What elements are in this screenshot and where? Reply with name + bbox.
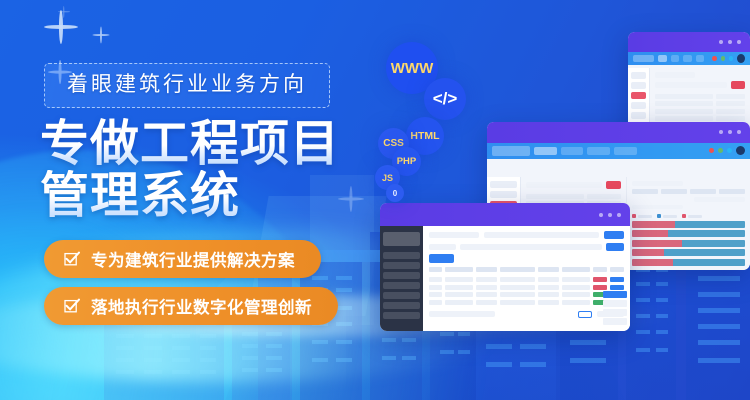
legend-entry [632,214,652,218]
table-row [429,292,625,297]
window-dot [737,40,741,44]
status-icon [718,148,723,153]
table-header-cell [500,267,535,272]
app-tab [671,55,680,62]
app-logo [383,232,420,246]
content-line [526,182,602,188]
table-header-cell [445,267,473,272]
headline-line-2: 管理系统 [40,170,340,222]
content-line [632,181,683,186]
table-row [655,116,745,121]
dashboard-window-front [380,203,630,331]
app-topbar [487,143,750,160]
window-dot [728,130,732,134]
window-dot [608,213,612,217]
sidebar-item [383,292,420,299]
feature-pill-1-label: 专为建筑行业提供解决方案 [91,247,295,271]
window-title-bar [380,203,630,226]
avatar [736,146,745,155]
app-logo [633,55,654,62]
app-content [423,226,631,331]
subtitle-box: 着眼建筑行业业务方向 [44,63,330,108]
add-button [429,254,454,263]
content-line [632,205,683,210]
content-table [429,277,625,305]
table-cell [526,194,584,199]
sidebar-item [631,102,646,109]
table-header-cell [719,189,745,194]
chart-bar [632,221,745,228]
table-header-cell [661,189,687,194]
notification-icon [712,56,716,61]
table-header-cell [593,267,607,272]
feature-pill-1[interactable]: 专为建筑行业提供解决方案 [44,240,321,278]
app-tab [587,147,610,156]
page-title-placeholder [429,232,480,238]
table-cell [716,116,745,121]
window-dot [737,130,741,134]
status-icon [729,56,733,61]
content-line [694,197,745,202]
table-row [429,300,625,305]
bubble-zero: 0 [386,184,404,202]
sidebar-item [383,282,420,289]
sidebar-item [383,302,420,309]
table-header-cell [562,267,590,272]
sidebar-item [631,112,646,119]
subtitle-text: 着眼建筑行业业务方向 [67,72,307,97]
table-row [429,277,625,282]
window-dot [719,130,723,134]
table-header-cell [429,267,443,272]
content-line [655,72,696,78]
table-cell [587,194,622,199]
sparkle-star-icon [58,6,70,18]
sidebar-item [490,191,517,198]
bar-chart [632,212,745,266]
table-header-cell [610,267,624,272]
table-cell [716,94,745,99]
content-action-button [604,231,624,239]
sidebar-item [631,82,646,89]
window-dot [617,213,621,217]
app-tab [658,55,667,62]
app-tab [561,147,584,156]
legend-entry [657,214,677,218]
table-row [655,101,745,106]
promo-banner: WWW </> HTML CSS PHP JS 0 着眼建筑行业业务方向 专做工… [0,0,750,400]
headline: 专做工程项目 管理系统 [40,118,340,223]
chart-bar [632,249,745,256]
filter-field [460,244,603,250]
window-dot [728,40,732,44]
search-button [606,243,624,251]
window-title-bar [487,122,750,143]
chart-bar [632,259,745,266]
sparkle-star-icon [338,186,364,212]
table-cell [655,94,713,99]
table-cell [655,116,713,121]
app-sidebar-dark [380,226,423,331]
menu-item [603,291,627,298]
table-row [429,285,625,290]
chart-bar [632,240,745,247]
table-header-cell [632,189,658,194]
sidebar-item [631,72,646,79]
content-line [655,82,727,88]
table-row [655,109,745,114]
table-header-cell [476,267,497,272]
app-topbar [628,52,750,65]
feature-pill-list: 专为建筑行业提供解决方案 落地执行行业数字化管理创新 [44,240,338,334]
legend-entry [682,214,702,218]
table-cell [655,109,713,114]
filter-field [429,244,456,250]
headline-line-1: 专做工程项目 [40,118,340,170]
sidebar-item [383,252,420,259]
table-cell [655,101,713,106]
bubble-code: </> [424,78,466,120]
chart-legend [632,214,745,218]
table-cell [716,101,745,106]
app-content-chart [626,177,750,270]
window-dot [719,40,723,44]
app-tab [683,55,692,62]
chart-bar [632,230,745,237]
status-icon [727,148,732,153]
menu-item [603,300,627,307]
window-dot [599,213,603,217]
sidebar-item-active [631,92,646,99]
pagination-info [429,311,495,317]
avatar [737,54,745,63]
status-icon [721,56,725,61]
sparkle-star-icon [92,26,109,43]
notification-icon [709,148,714,153]
content-action-button [606,181,621,189]
sidebar-item [490,181,517,188]
menu-item [603,309,627,316]
table-header-cell [538,267,559,272]
feature-pill-2-label: 落地执行行业数字化管理创新 [91,294,312,318]
table-header-cell [690,189,716,194]
pagination-button [578,311,592,318]
sidebar-item [383,262,420,269]
table-row [526,194,621,199]
table-row [655,94,745,99]
checkbox-check-icon [64,251,80,267]
table-cell [716,109,745,114]
menu-item [603,318,627,325]
app-logo [492,146,530,155]
sidebar-item [383,272,420,279]
app-tab [614,147,637,156]
checkbox-check-icon [64,298,80,314]
row-action-menu [603,291,627,325]
sidebar-item [383,312,420,319]
feature-pill-2[interactable]: 落地执行行业数字化管理创新 [44,287,338,325]
app-tab [696,55,705,62]
content-line [484,232,599,238]
content-action-button [731,81,745,89]
window-body [380,226,630,331]
window-title-bar [628,32,750,52]
table-header-row [429,267,625,272]
table-header-row [632,189,745,194]
app-tab [534,147,557,156]
